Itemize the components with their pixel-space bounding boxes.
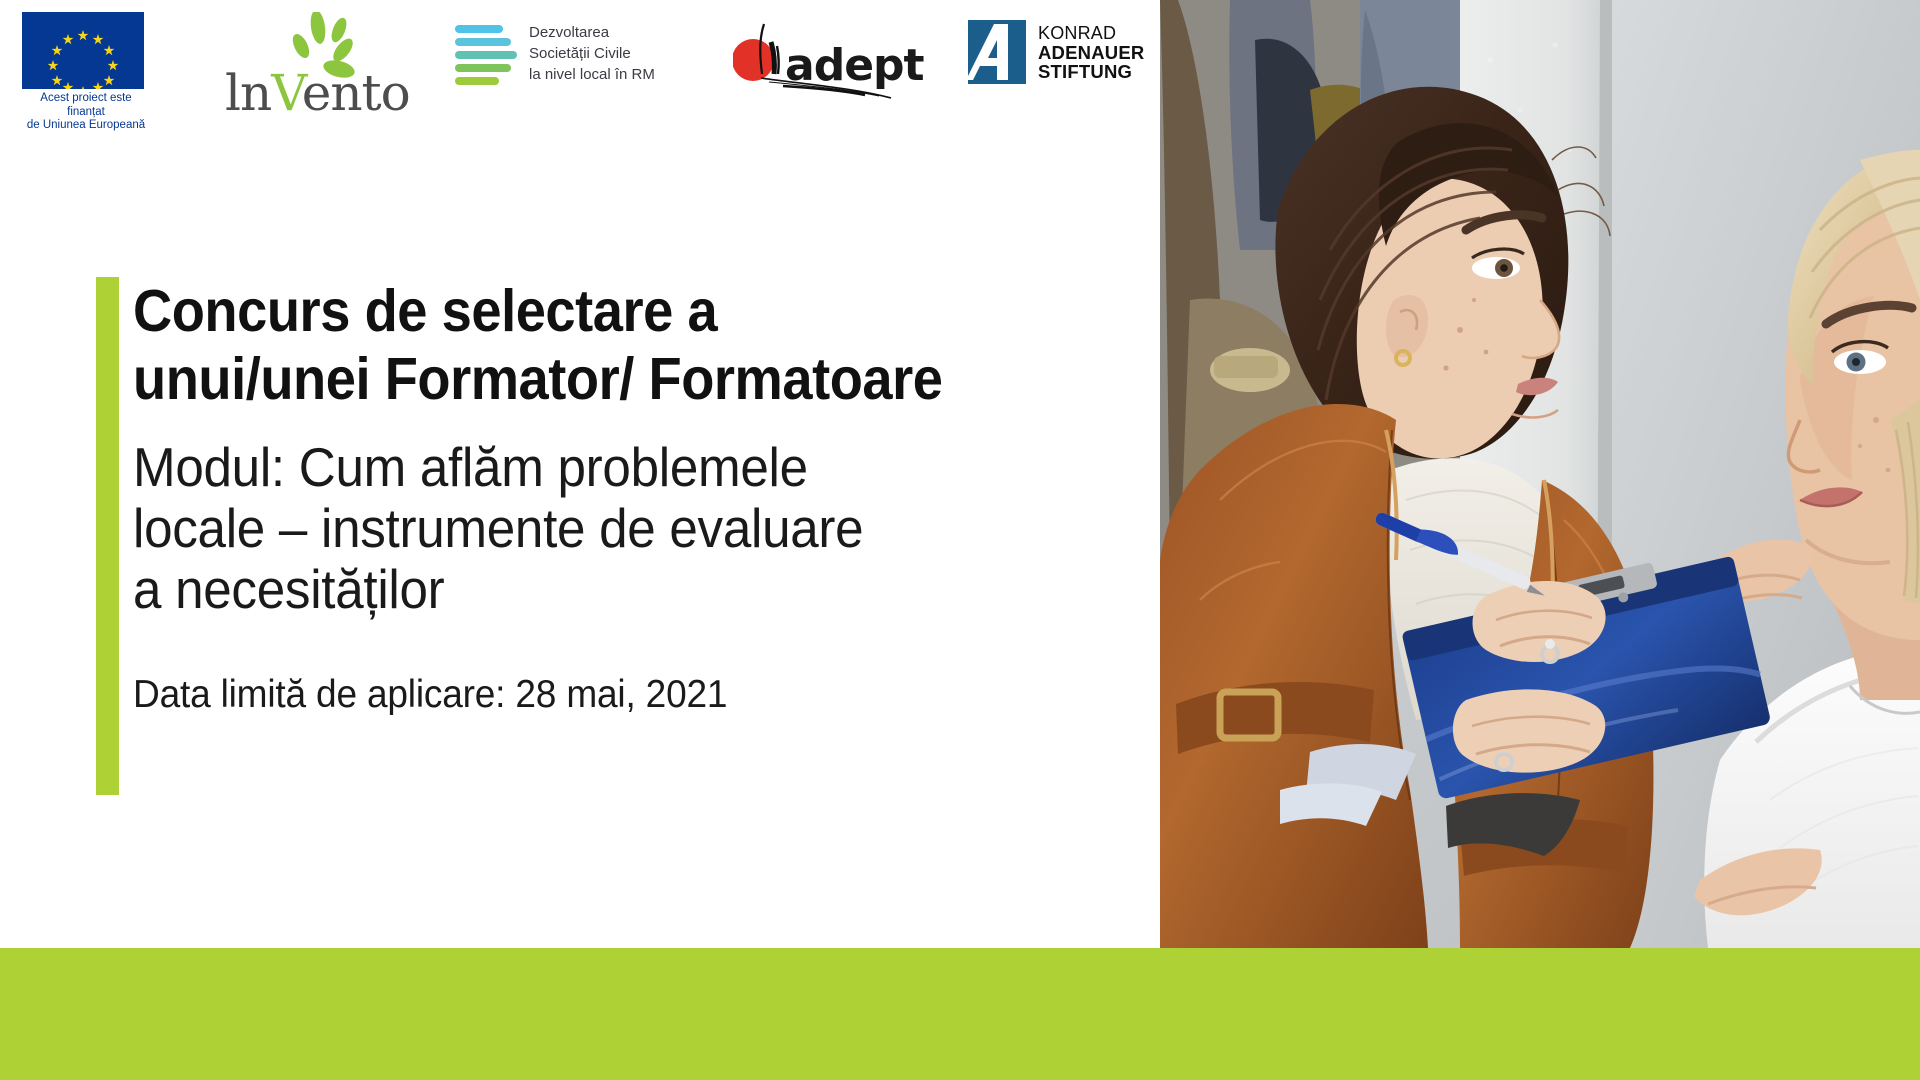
invento-word-part1: ln	[225, 64, 271, 122]
dsc-bars-icon	[455, 22, 517, 85]
invento-wordmark: lnVento	[225, 68, 410, 118]
title-line-2: unui/unei Formator/ Formatoare	[133, 346, 943, 412]
green-accent-bar	[96, 277, 119, 795]
kas-mark-icon	[968, 20, 1026, 84]
dezvoltarea-societatii-civile-logo: Dezvoltarea Societății Civile la nivel l…	[455, 22, 655, 85]
two-women-with-clipboard-survey-photo	[1160, 0, 1920, 948]
eu-stars-icon	[22, 12, 144, 89]
logo-bar: Acest proiect este finanțat de Uniunea E…	[0, 0, 1160, 130]
invento-logo: lnVento	[225, 14, 375, 114]
application-deadline: Data limită de aplicare: 28 mai, 2021	[133, 672, 1083, 718]
dsc-text-line-3: la nivel local în RM	[529, 64, 655, 85]
kas-text-line-3: STIFTUNG	[1038, 62, 1144, 81]
subtitle-line-1: Modul: Cum aflăm problemele	[133, 436, 808, 498]
module-subtitle: Modul: Cum aflăm problemele locale – ins…	[133, 437, 1063, 620]
eu-caption-line-2: de Uniunea Europeană	[22, 119, 150, 133]
dsc-text-line-2: Societății Civile	[529, 43, 655, 64]
konrad-adenauer-stiftung-logo: KONRAD ADENAUER STIFTUNG	[968, 20, 1144, 84]
eu-flag-icon	[22, 12, 144, 89]
subtitle-line-2: locale – instrumente de evaluare	[133, 497, 863, 559]
kas-text-line-1: KONRAD	[1038, 24, 1144, 43]
adept-logo: adept	[733, 16, 923, 111]
eu-caption-line-1: Acest proiect este finanțat	[22, 92, 150, 119]
photo-illustration	[1160, 0, 1920, 948]
european-union-flag-logo: Acest proiect este finanțat de Uniunea E…	[22, 12, 150, 133]
invento-word-part2: ento	[302, 64, 410, 122]
subtitle-line-3: a necesităților	[133, 558, 444, 620]
eu-logo-caption: Acest proiect este finanțat de Uniunea E…	[22, 92, 150, 133]
bottom-green-band	[0, 948, 1920, 1080]
presentation-slide: Acest proiect este finanțat de Uniunea E…	[0, 0, 1920, 1080]
slide-text-block: Concurs de selectare a unui/unei Formato…	[133, 277, 1133, 718]
kas-logo-text: KONRAD ADENAUER STIFTUNG	[1038, 24, 1144, 81]
kas-text-line-2: ADENAUER	[1038, 43, 1144, 62]
title-line-1: Concurs de selectare a	[133, 278, 717, 344]
invento-word-accent: V	[271, 64, 302, 122]
page-title: Concurs de selectare a unui/unei Formato…	[133, 277, 1053, 413]
adept-wordmark: adept	[785, 44, 924, 88]
dsc-text-line-1: Dezvoltarea	[529, 22, 655, 43]
dsc-logo-text: Dezvoltarea Societății Civile la nivel l…	[529, 22, 655, 85]
